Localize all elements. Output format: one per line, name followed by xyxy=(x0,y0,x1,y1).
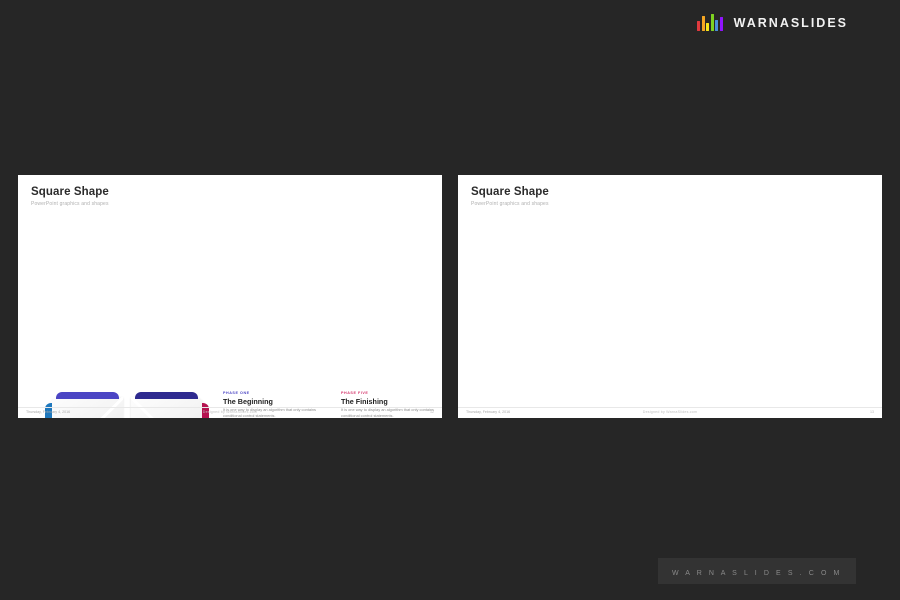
footer-date: Thursday, February 4, 2016 xyxy=(26,410,70,414)
logo-bar-1 xyxy=(702,16,705,31)
footer-page-number: 13 xyxy=(870,410,874,414)
watermark-text: W A R N A S L I D E S . C O M xyxy=(672,570,842,577)
logo-bar-5 xyxy=(720,17,723,31)
accent-cap-top-left xyxy=(56,392,119,399)
brand-name: WARNASLIDES xyxy=(734,16,848,30)
logo-bar-0 xyxy=(697,21,700,31)
accent-cap-top-right xyxy=(135,392,198,399)
slide-right-title: Square Shape xyxy=(471,186,549,198)
phase-kicker: PHASE FIVE xyxy=(341,391,442,395)
screenshot-canvas: WARNASLIDES Square Shape PowerPoint grap… xyxy=(0,0,900,600)
slide-left[interactable]: Square Shape PowerPoint graphics and sha… xyxy=(18,175,442,418)
footer-credit: Designed by WarnaSlides.com xyxy=(203,410,257,414)
watermark: W A R N A S L I D E S . C O M xyxy=(658,558,856,584)
footer-credit: Designed by WarnaSlides.com xyxy=(643,410,697,414)
slide-right-subtitle: PowerPoint graphics and shapes xyxy=(471,201,549,207)
phase-title: The Finishing xyxy=(341,397,442,406)
slide-left-footer: Thursday, February 4, 2016 Designed by W… xyxy=(18,407,442,418)
slide-right-footer: Thursday, February 4, 2016 Designed by W… xyxy=(458,407,882,418)
logo-bar-2 xyxy=(706,23,709,31)
brand-logo: WARNASLIDES xyxy=(697,14,848,31)
logo-bar-3 xyxy=(711,14,714,31)
slide-left-header: Square Shape PowerPoint graphics and sha… xyxy=(31,186,109,207)
slide-right-header: Square Shape PowerPoint graphics and sha… xyxy=(471,186,549,207)
logo-bar-4 xyxy=(715,20,718,31)
slide-left-subtitle: PowerPoint graphics and shapes xyxy=(31,201,109,207)
phase-title: The Beginning xyxy=(223,397,333,406)
slide-left-title: Square Shape xyxy=(31,186,109,198)
footer-date: Thursday, February 4, 2016 xyxy=(466,410,510,414)
logo-bars-icon xyxy=(697,14,723,31)
phase-kicker: PHASE ONE xyxy=(223,391,333,395)
slide-right[interactable]: Square Shape PowerPoint graphics and sha… xyxy=(458,175,882,418)
footer-page-number: 12 xyxy=(430,410,434,414)
